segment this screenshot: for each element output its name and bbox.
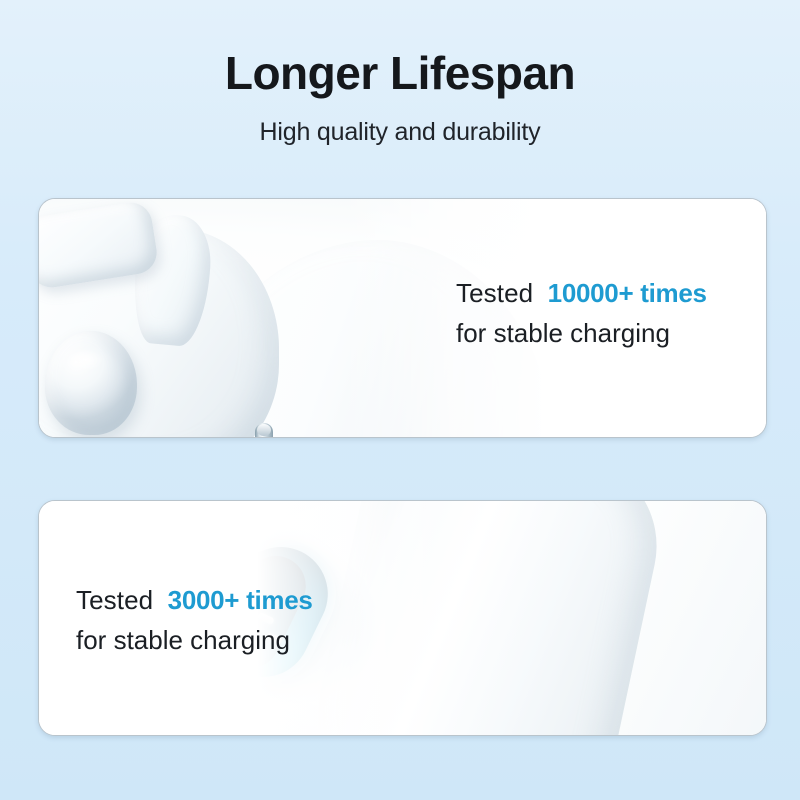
- feature-card-3000: Tested 3000+ times for stable charging: [38, 500, 767, 736]
- card-2-line2-text: for stable charging: [76, 623, 313, 659]
- card-2-accent-text: 3000+ times: [168, 585, 313, 615]
- card-1-caption: Tested 10000+ times for stable charging: [456, 276, 707, 352]
- charging-pin-icon: [242, 421, 286, 437]
- base-knob: [45, 331, 137, 435]
- page-title: Longer Lifespan: [0, 48, 800, 99]
- card-2-lead-text: Tested: [76, 585, 153, 615]
- card-1-lead-text: Tested: [456, 278, 533, 308]
- base-knob-highlight: [69, 349, 103, 371]
- page-subtitle: High quality and durability: [0, 118, 800, 147]
- card-1-accent-text: 10000+ times: [548, 278, 707, 308]
- card-2-caption: Tested 3000+ times for stable charging: [76, 583, 313, 659]
- pin-tip: [257, 424, 271, 436]
- card-1-line2-text: for stable charging: [456, 316, 707, 352]
- feature-card-10000: ↯ ↯ Tested 10000+ times for stable charg…: [38, 198, 767, 438]
- page-header: Longer Lifespan High quality and durabil…: [0, 0, 800, 147]
